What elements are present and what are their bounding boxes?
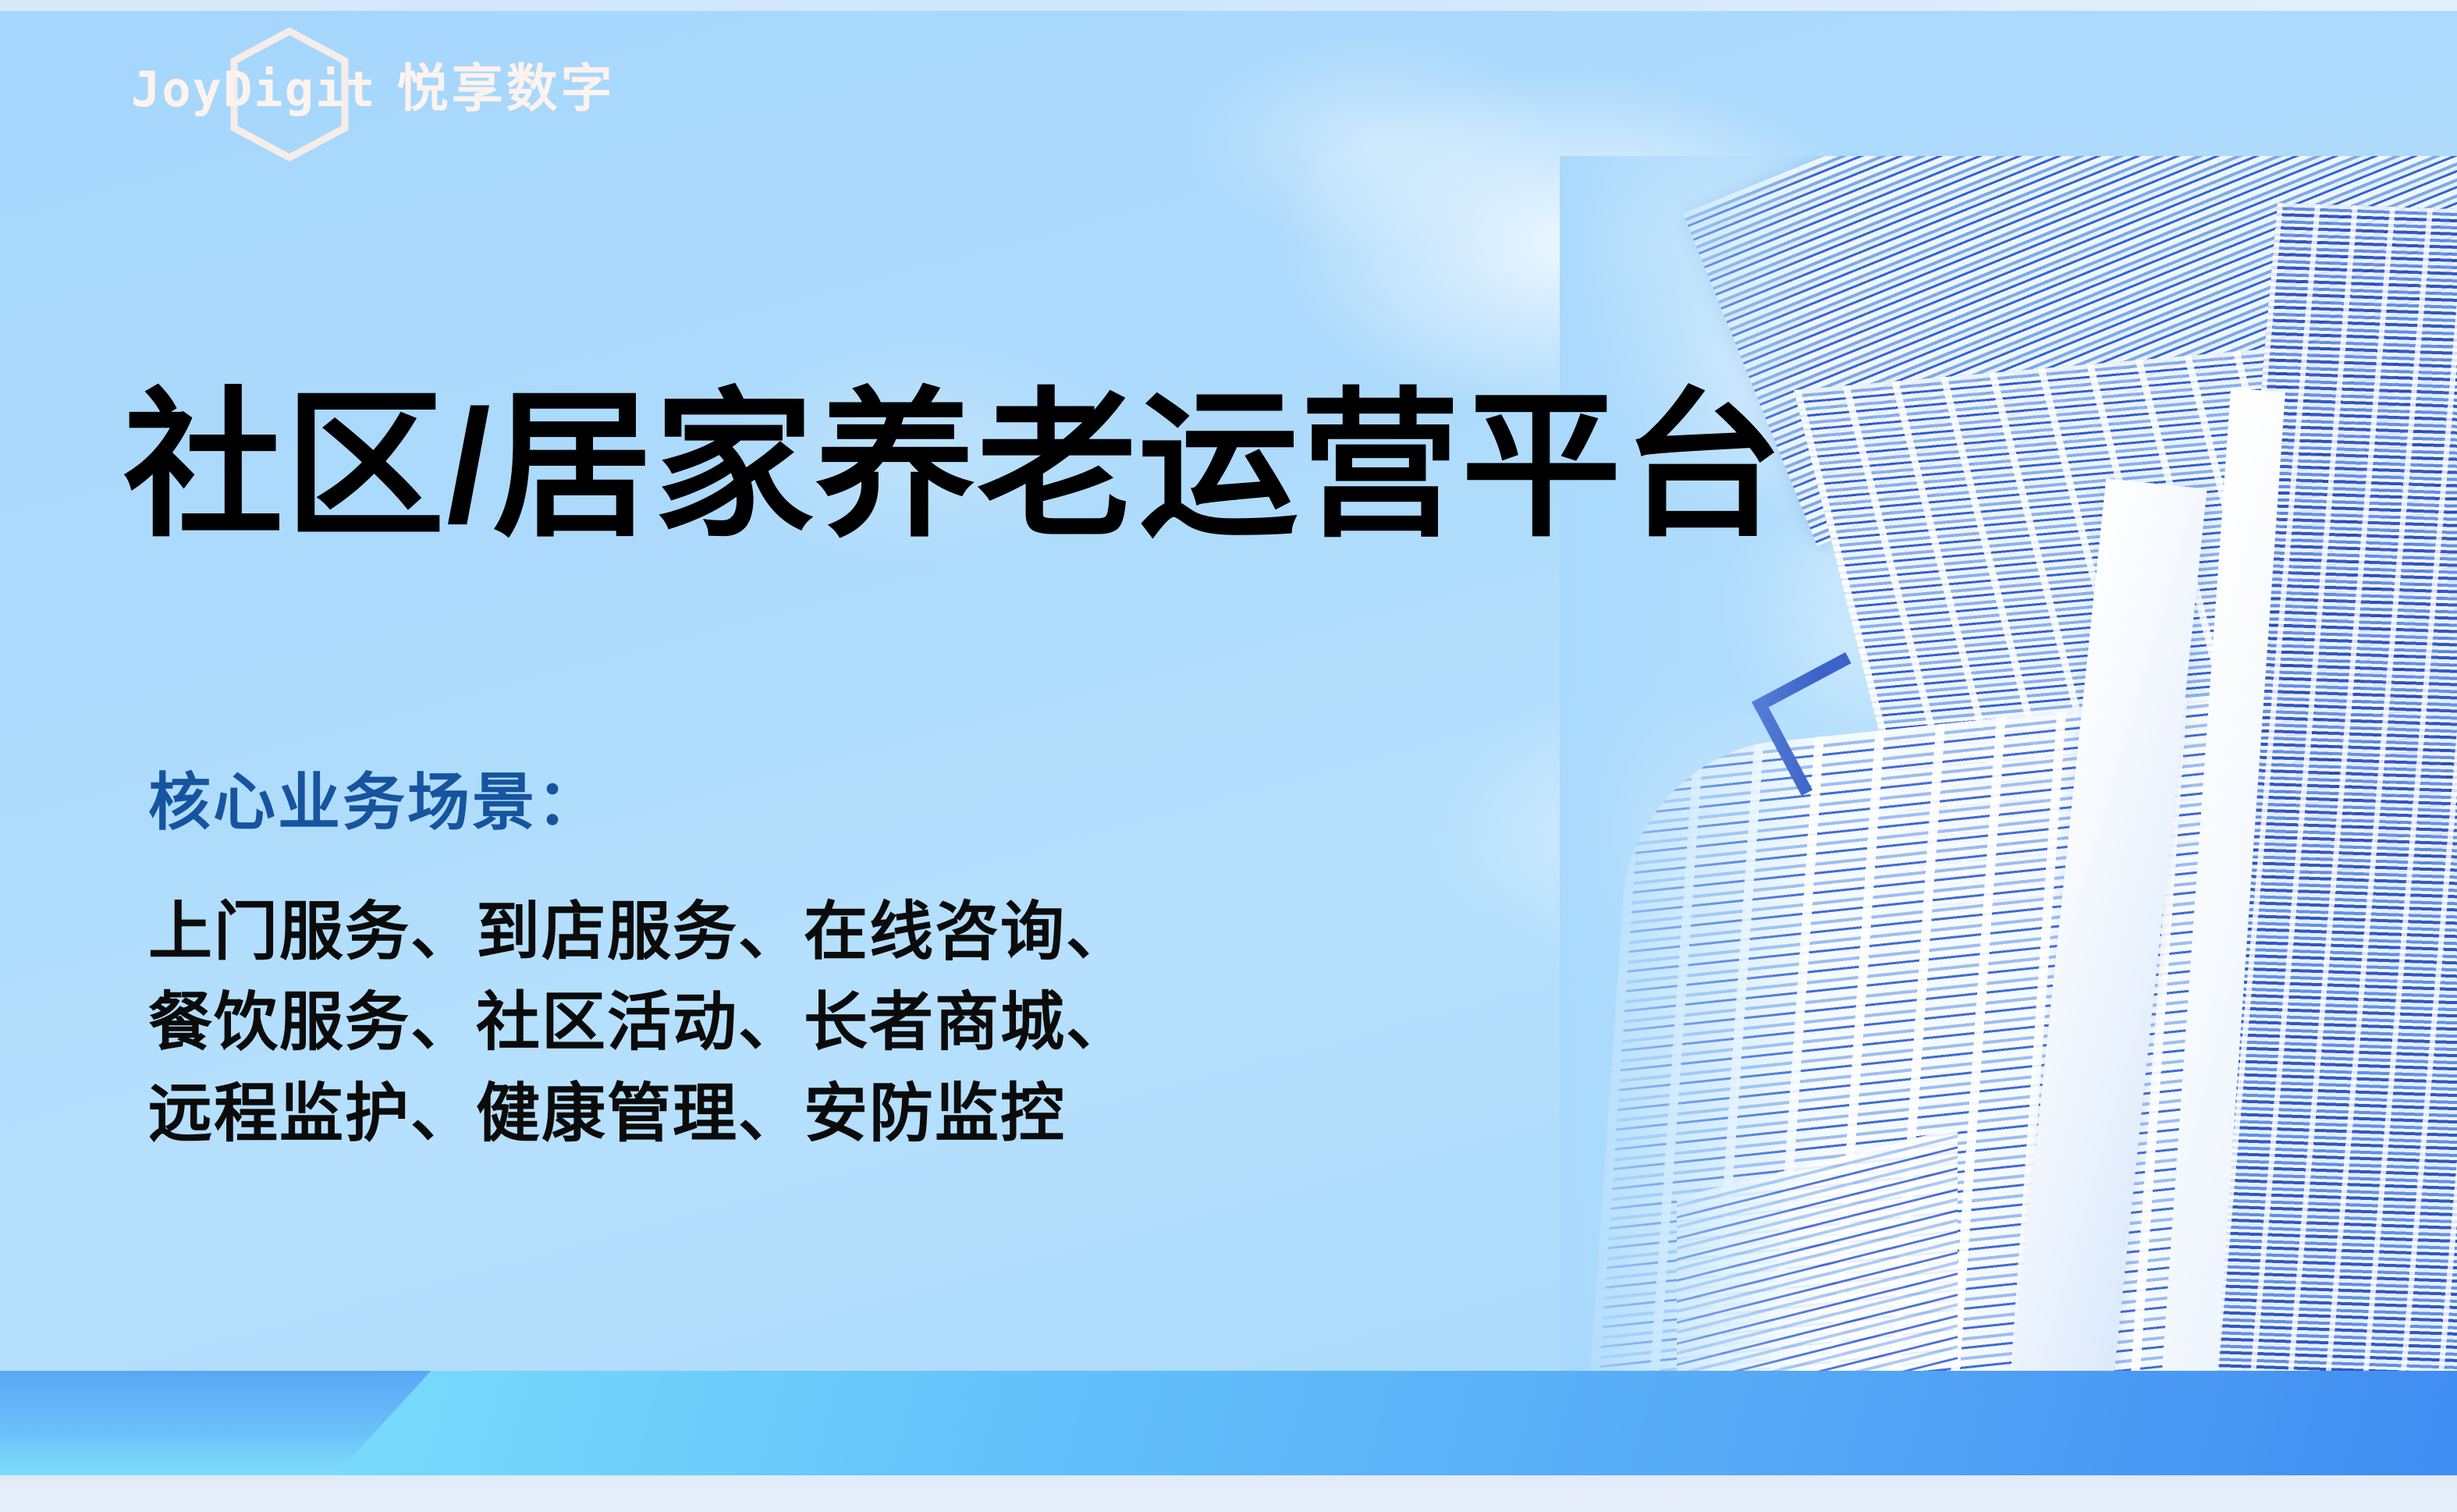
brand-logo: JoyDigit悦享数字 [131, 30, 662, 131]
brand-logo-en: JoyDigit [131, 61, 377, 118]
brand-logo-cn: 悦享数字 [397, 59, 616, 117]
scenario-line-3: 远程监护、健康管理、安防监控 [148, 1069, 1131, 1159]
bottom-decor-band [0, 1371, 2457, 1512]
band-parallelogram-right [336, 1371, 2457, 1475]
scenario-line-2: 餐饮服务、社区活动、长者商城、 [148, 978, 1131, 1068]
section-heading: 核心业务场景： [148, 768, 1131, 837]
brand-logo-text: JoyDigit悦享数字 [131, 62, 616, 114]
scenario-line-1: 上门服务、到店服务、在线咨询、 [148, 887, 1131, 978]
photo-left-fade [1560, 156, 2457, 1381]
slide-root: JoyDigit悦享数字 社区/居家养老运营平台 核心业务场景： 上门服务、到店… [0, 0, 2457, 1512]
band-base-strip [0, 1475, 2457, 1512]
top-accent-strip [0, 0, 2457, 11]
content-block: 核心业务场景： 上门服务、到店服务、在线咨询、 餐饮服务、社区活动、长者商城、 … [148, 768, 1131, 1159]
skyscraper-photo [1560, 156, 2457, 1381]
page-title: 社区/居家养老运营平台 [123, 382, 1784, 551]
